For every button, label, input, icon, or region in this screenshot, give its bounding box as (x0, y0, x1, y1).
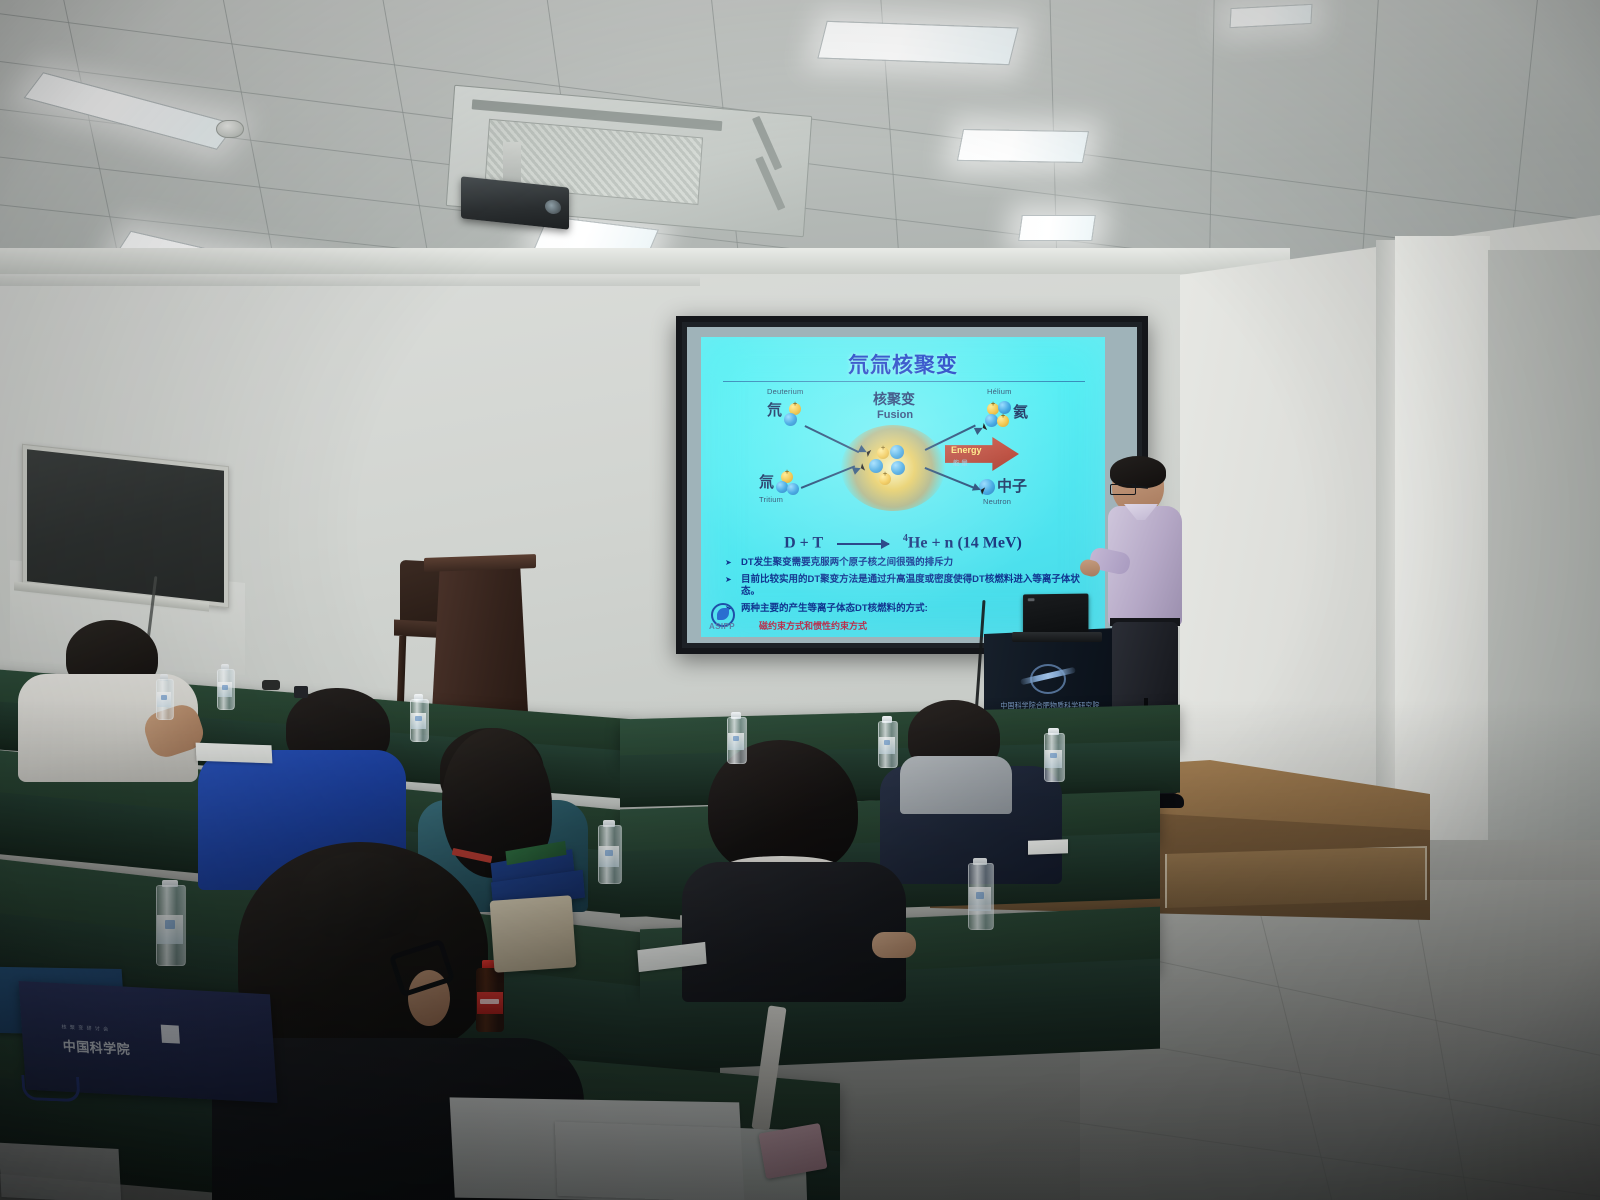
fusion-label-en: Fusion (877, 409, 913, 421)
paper-sheet-3[interactable] (1028, 839, 1068, 854)
ceiling-soffit (0, 248, 1290, 274)
podium-logo (1018, 660, 1078, 694)
conference-folder-subtitle: 核 聚 变 研 讨 会 (61, 1023, 109, 1033)
tritium-label-en: Tritium (759, 495, 783, 504)
audience-back-head (300, 852, 420, 942)
arrow-deuterium-in (805, 425, 860, 453)
core-proton-2-icon (879, 473, 891, 485)
equation-arrow-icon (837, 543, 889, 545)
water-bottle-5[interactable] (878, 716, 896, 766)
neutron-label-en: Neutron (983, 497, 1011, 506)
water-bottle-6[interactable] (1044, 728, 1063, 780)
bottle-label (599, 846, 619, 867)
ceiling-light-4 (817, 21, 1018, 65)
audience-black-top (672, 740, 922, 1000)
smoke-detector-icon (216, 120, 244, 138)
folder-handle[interactable] (21, 1075, 81, 1102)
core-proton-1-icon (877, 447, 889, 459)
laptop-screen[interactable] (1023, 594, 1088, 635)
fusion-label-cn: 核聚变 (873, 389, 915, 409)
arrow-helium-out-head (974, 423, 987, 435)
water-bottle-1[interactable] (156, 674, 172, 718)
asipp-logo: ASIPP (709, 603, 751, 633)
tan-tote-bag[interactable] (490, 895, 577, 973)
desk-object-1 (262, 680, 280, 690)
desk-object-2 (294, 686, 308, 698)
deuterium-neutron-icon (784, 413, 797, 426)
fusion-diagram: Deuterium 氘 氚 Tritium 核聚变 Fusion (701, 387, 1105, 527)
grey-shirt-body (900, 756, 1012, 814)
conference-folder-title: 中国科学院 (62, 1035, 131, 1058)
slide-bullet-1: DT发生聚变需要克服两个原子核之间很强的排斥力 (725, 557, 1095, 569)
bottle-label (1045, 750, 1062, 768)
equation-left: D + T (784, 534, 823, 551)
core-neutron-1-icon (890, 445, 904, 459)
water-bottle-9[interactable] (156, 880, 184, 964)
laptop-keyboard[interactable] (1012, 632, 1102, 642)
fusion-equation: D + T 4He + n (14 MeV) (701, 533, 1105, 552)
blackboard (22, 444, 229, 608)
laptop-logo-icon (1028, 598, 1035, 601)
deuterium-label-en: Deuterium (767, 387, 803, 396)
blackboard-surface (27, 449, 224, 602)
bottle-label (157, 692, 172, 707)
bottle-label (728, 733, 745, 750)
water-bottle-2[interactable] (217, 664, 233, 708)
helium-label-en: Hélium (987, 387, 1012, 396)
audience-grey-shirt (900, 742, 1020, 812)
back-head-hair (300, 852, 420, 940)
paper-sheet-1[interactable] (196, 743, 273, 764)
ceiling-light-6 (1018, 215, 1096, 241)
water-bottle-4[interactable] (727, 712, 745, 762)
deuterium-label-cn: 氘 (767, 399, 782, 420)
energy-label: Energy (951, 445, 982, 455)
presentation-slide: 氘氚核聚变 Deuterium 氘 氚 Tritium 核聚变 (701, 337, 1105, 637)
ceiling-light-5 (957, 129, 1089, 163)
water-bottle-3[interactable] (410, 694, 427, 740)
neutron-label-cn: 中子 (997, 475, 1027, 496)
bottle-label (157, 915, 183, 944)
desk-paper-near[interactable] (0, 1143, 121, 1200)
projector-lens-icon (545, 199, 561, 215)
slide-title-rule (723, 381, 1085, 382)
projector-mount (503, 142, 521, 184)
tritium-label-cn: 氚 (759, 471, 774, 492)
core-neutron-3-icon (891, 461, 905, 475)
folder-qr-icon (161, 1025, 180, 1044)
bottle-label (411, 713, 427, 729)
bottle-label (218, 682, 233, 697)
tritium-neutron-b-icon (787, 483, 799, 495)
energy-sub-label: 能 量 (953, 457, 968, 467)
lecture-hall-photo: 氘氚核聚变 Deuterium 氘 氚 Tritium 核聚变 (0, 0, 1600, 1200)
cola-label (477, 992, 504, 1014)
helium-proton-2-icon (997, 415, 1009, 427)
black-top-body (682, 862, 906, 1002)
water-bottle-8[interactable] (968, 858, 992, 928)
helium-label-cn: 氦 (1013, 401, 1028, 422)
wall-trim (0, 276, 700, 286)
bottle-label (879, 737, 896, 754)
equation-right: He + n (14 MeV) (908, 534, 1022, 551)
water-bottle-7[interactable] (598, 820, 620, 882)
slide-title: 氘氚核聚变 (701, 349, 1105, 379)
asipp-logo-text: ASIPP (709, 622, 735, 631)
bottle-label (969, 887, 991, 911)
black-top-hand (872, 932, 916, 958)
wooden-lectern (432, 562, 528, 712)
